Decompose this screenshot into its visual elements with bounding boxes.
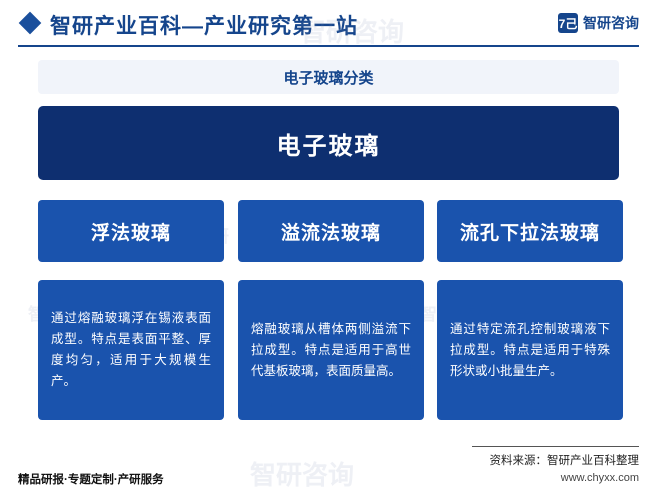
watermark-bottom: 智研咨询 [250, 455, 354, 492]
root-node: 电子玻璃 [38, 106, 619, 180]
page-header: 智研产业百科—产业研究第一站 7己 智研咨询 [0, 0, 657, 48]
page-title: 智研产业百科—产业研究第一站 [50, 10, 358, 40]
branch-node-2: 流孔下拉法玻璃 [437, 200, 623, 262]
diamond-icon [19, 12, 42, 35]
branch-description-text-0: 通过熔融玻璃浮在锡液表面成型。特点是表面平整、厚度均匀，适用于大规模生产。 [38, 308, 224, 392]
source-note: 资料来源：智研产业百科整理 [490, 452, 640, 468]
footer-divider [472, 446, 639, 447]
logo-text: 智研咨询 [583, 13, 639, 33]
branch-description-text-1: 熔融玻璃从槽体两侧溢流下拉成型。特点是适用于高世代基板玻璃，表面质量高。 [238, 319, 424, 382]
branch-description-0: 通过熔融玻璃浮在锡液表面成型。特点是表面平整、厚度均匀，适用于大规模生产。 [38, 280, 224, 420]
branch-description-1: 熔融玻璃从槽体两侧溢流下拉成型。特点是适用于高世代基板玻璃，表面质量高。 [238, 280, 424, 420]
source-url: www.chyxx.com [561, 472, 639, 484]
branch-node-1: 溢流法玻璃 [238, 200, 424, 262]
branch-node-0: 浮法玻璃 [38, 200, 224, 262]
brand-logo: 7己 智研咨询 [558, 13, 639, 33]
branch-description-text-2: 通过特定流孔控制玻璃液下拉成型。特点是适用于特殊形状或小批量生产。 [437, 319, 623, 382]
logo-mark-icon: 7己 [558, 13, 578, 33]
footer-services: 精品研报·专题定制·产研服务 [18, 471, 164, 487]
header-divider [18, 45, 639, 47]
branch-description-2: 通过特定流孔控制玻璃液下拉成型。特点是适用于特殊形状或小批量生产。 [437, 280, 623, 420]
diagram-title: 电子玻璃分类 [38, 60, 619, 94]
